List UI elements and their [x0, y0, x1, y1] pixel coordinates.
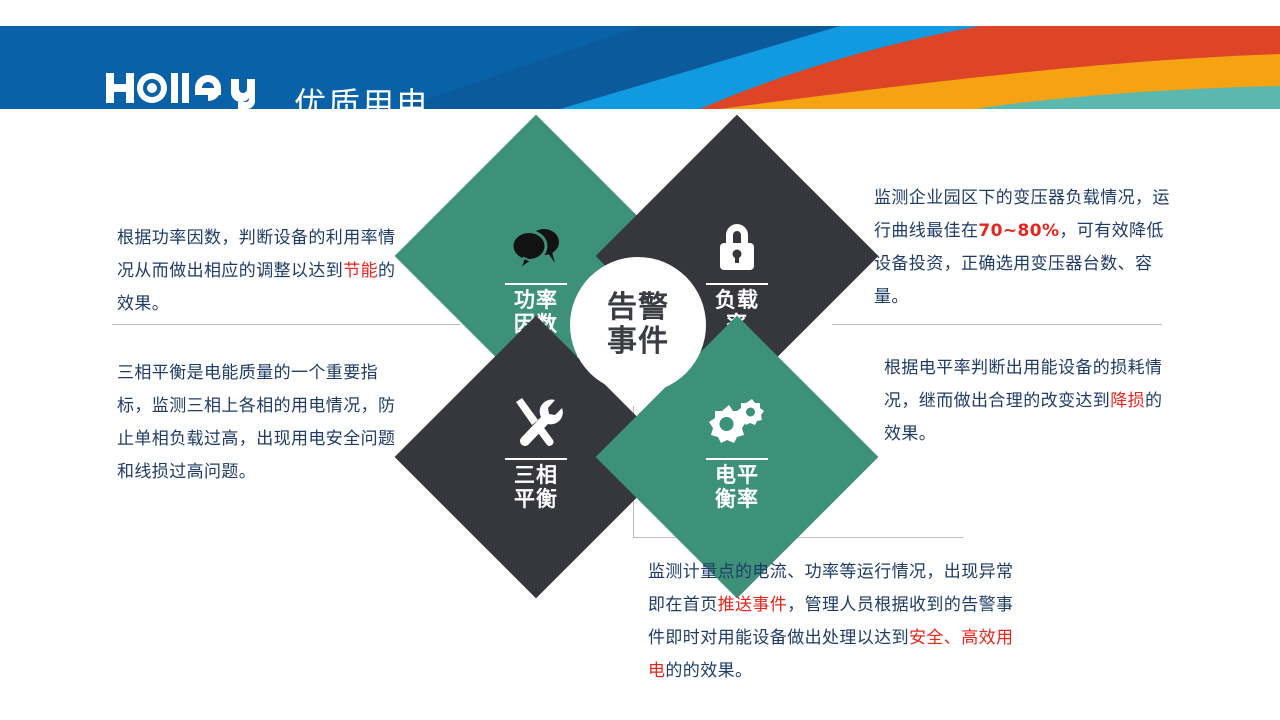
speech-bubbles-icon	[507, 219, 565, 277]
slide-canvas: TECH 华立科技 优质用电	[0, 0, 1280, 720]
tools-icon	[507, 394, 565, 452]
lock-icon	[708, 219, 766, 277]
node-rule	[706, 283, 768, 285]
description-level-balance: 根据电平率判断出用能设备的损耗情况，继而做出合理的改变达到降损的效果。	[884, 352, 1174, 451]
description-three-phase: 三相平衡是电能质量的一个重要指标，监测三相上各相的用电情况，防止单相负载过高，出…	[117, 357, 412, 490]
connector-line-right	[832, 324, 1162, 325]
node-rule	[505, 458, 567, 460]
description-alarm-event: 监测计量点的电流、功率等运行情况，出现异常即在首页推送事件，管理人员根据收到的告…	[648, 556, 1020, 689]
gears-icon	[708, 394, 766, 452]
diagram-center-hub: 告警 事件	[570, 257, 706, 393]
node-rule	[505, 283, 567, 285]
connector-line-left	[112, 324, 460, 325]
description-load-rate: 监测企业园区下的变压器负载情况，运行曲线最佳在70~80%，可有效降低设备投资，…	[874, 182, 1174, 315]
center-label: 告警 事件	[607, 291, 669, 359]
diagram-node-label: 电平 衡率	[715, 464, 759, 511]
diagram-node-label: 三相 平衡	[514, 464, 558, 511]
description-power-factor: 根据功率因数，判断设备的利用率情况从而做出相应的调整以达到节能的效果。	[117, 222, 412, 321]
node-rule	[706, 458, 768, 460]
